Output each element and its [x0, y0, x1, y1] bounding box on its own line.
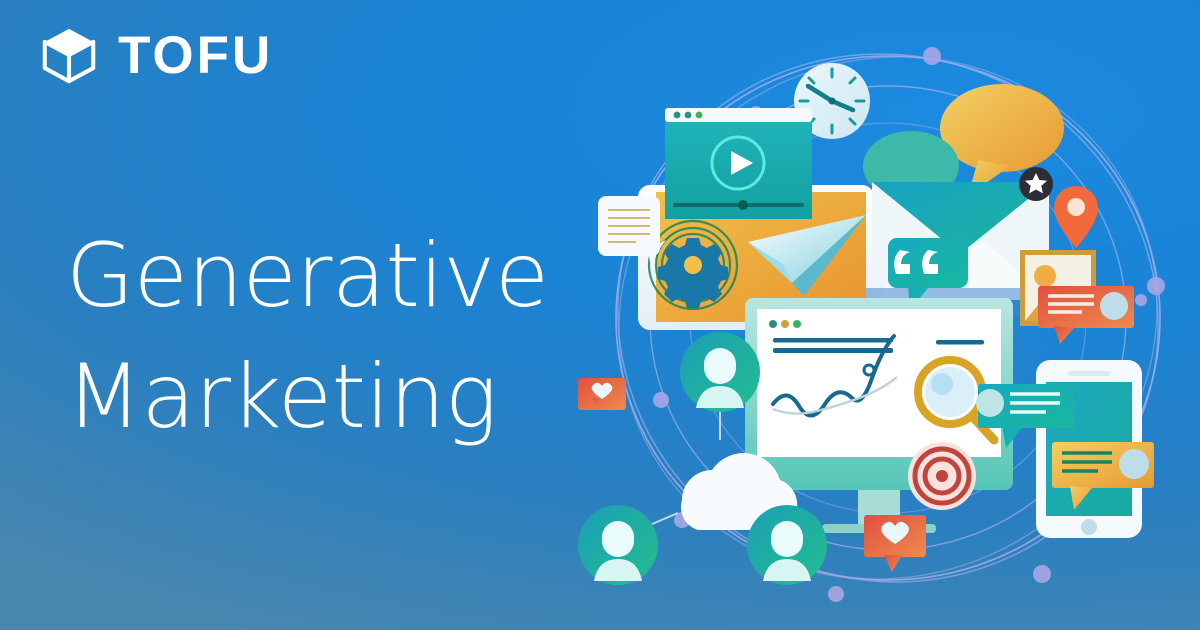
brand-lockup: TOFU [38, 24, 273, 86]
heart-like-card-icon [864, 515, 926, 572]
headline-line-2: Marketing [66, 336, 626, 457]
brand-wordmark: TOFU [118, 29, 273, 82]
target-icon [908, 442, 976, 510]
document-lines-bubble-icon [598, 196, 666, 262]
location-pin-icon [1054, 186, 1098, 248]
gear-icon [649, 221, 737, 309]
heart-like-card-icon [578, 378, 626, 410]
star-badge-icon [1019, 167, 1053, 201]
page-title: Generative Marketing [66, 215, 626, 458]
digital-marketing-network-illustration [570, 0, 1200, 630]
cube-icon [38, 24, 100, 86]
promo-banner: TOFU Generative Marketing [0, 0, 1200, 630]
avatar-circle-icon [747, 505, 827, 585]
avatar-circle-icon [578, 505, 658, 585]
video-player-window-icon [665, 108, 812, 219]
headline-line-1: Generative [66, 215, 626, 336]
avatar-circle-icon [680, 332, 760, 412]
